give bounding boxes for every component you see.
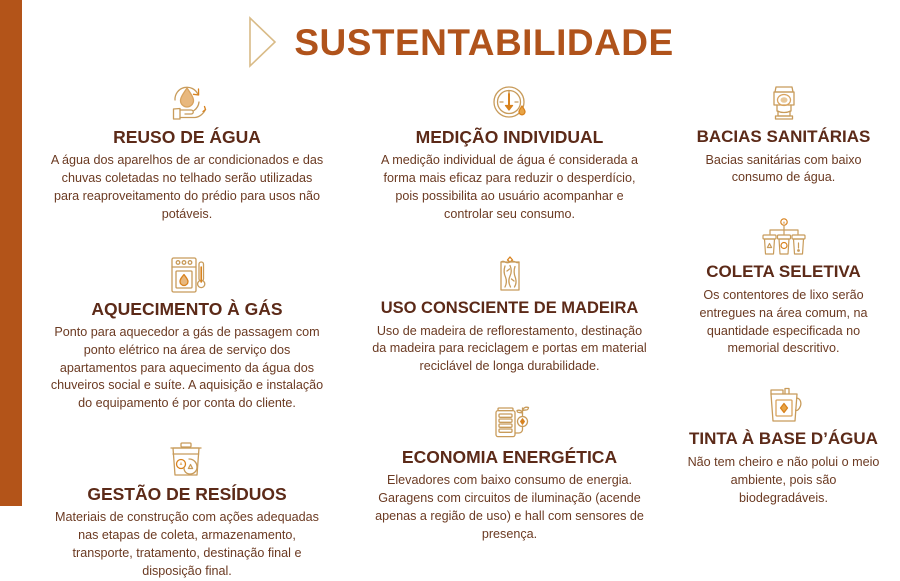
feature-title: TINTA À BASE D’ÁGUA bbox=[673, 429, 894, 449]
feature-title: ECONOMIA ENERGÉTICA bbox=[358, 447, 661, 467]
feature-title: GESTÃO DE RESÍDUOS bbox=[28, 484, 346, 504]
feature-body: Não tem cheiro e não polui o meio ambien… bbox=[673, 454, 894, 508]
hand-water-drop-recycle-icon bbox=[28, 78, 346, 124]
triangle-right-outline-icon bbox=[248, 16, 278, 68]
feature-body: Elevadores com baixo consumo de energia.… bbox=[358, 472, 661, 544]
feature-aquecimento-a-gas: AQUECIMENTO À GÁS Ponto para aquecedor a… bbox=[22, 250, 352, 414]
paint-bucket-icon bbox=[673, 380, 894, 426]
spacer bbox=[667, 358, 900, 380]
column-right: BACIAS SANITÁRIAS Bacias sanitárias com … bbox=[667, 78, 900, 581]
recycling-bins-sorting-icon bbox=[673, 213, 894, 259]
feature-body: A água dos aparelhos de ar condicionados… bbox=[28, 152, 346, 224]
spacer bbox=[667, 187, 900, 213]
feature-title: MEDIÇÃO INDIVIDUAL bbox=[358, 127, 661, 147]
feature-body: A medição individual de água é considera… bbox=[358, 152, 661, 224]
feature-title: BACIAS SANITÁRIAS bbox=[673, 127, 894, 147]
feature-body: Os contentores de lixo serão entregues n… bbox=[673, 287, 894, 359]
feature-reuso-de-agua: REUSO DE ÁGUA A água dos aparelhos de ar… bbox=[22, 78, 352, 224]
battery-leaf-energy-icon bbox=[358, 398, 661, 444]
page-title: SUSTENTABILIDADE bbox=[294, 24, 673, 61]
feature-body: Ponto para aquecedor a gás de passagem c… bbox=[28, 324, 346, 413]
accent-bar-left bbox=[0, 0, 22, 506]
toilet-bowl-icon bbox=[673, 78, 894, 124]
feature-gestao-de-residuos: GESTÃO DE RESÍDUOS Materiais de construç… bbox=[22, 435, 352, 581]
trash-bin-recycle-bag-icon bbox=[28, 435, 346, 481]
feature-bacias-sanitarias: BACIAS SANITÁRIAS Bacias sanitárias com … bbox=[667, 78, 900, 187]
feature-title: REUSO DE ÁGUA bbox=[28, 127, 346, 147]
features-grid: REUSO DE ÁGUA A água dos aparelhos de ar… bbox=[22, 78, 900, 581]
gas-heater-flame-thermometer-icon bbox=[28, 250, 346, 296]
feature-economia-energetica: ECONOMIA ENERGÉTICA Elevadores com baixo… bbox=[352, 398, 667, 544]
page-header: SUSTENTABILIDADE bbox=[22, 0, 900, 78]
spacer bbox=[22, 413, 352, 435]
feature-medicao-individual: MEDIÇÃO INDIVIDUAL A medição individual … bbox=[352, 78, 667, 224]
column-left: REUSO DE ÁGUA A água dos aparelhos de ar… bbox=[22, 78, 352, 581]
column-middle: MEDIÇÃO INDIVIDUAL A medição individual … bbox=[352, 78, 667, 581]
feature-title: AQUECIMENTO À GÁS bbox=[28, 299, 346, 319]
wood-log-grain-icon bbox=[358, 250, 661, 296]
feature-coleta-seletiva: COLETA SELETIVA Os contentores de lixo s… bbox=[667, 213, 900, 358]
feature-body: Uso de madeira de reflorestamento, desti… bbox=[358, 323, 661, 377]
spacer bbox=[352, 224, 667, 250]
spacer bbox=[22, 224, 352, 250]
infographic-page: SUSTENTABILIDADE REUSO bbox=[22, 0, 900, 506]
feature-uso-consciente-madeira: USO CONSCIENTE DE MADEIRA Uso de madeira… bbox=[352, 250, 667, 377]
water-meter-gauge-drop-icon bbox=[358, 78, 661, 124]
feature-tinta-base-agua: TINTA À BASE D’ÁGUA Não tem cheiro e não… bbox=[667, 380, 900, 507]
feature-body: Bacias sanitárias com baixo consumo de á… bbox=[673, 152, 894, 188]
spacer bbox=[352, 376, 667, 398]
feature-body: Materiais de construção com ações adequa… bbox=[28, 509, 346, 581]
feature-title: COLETA SELETIVA bbox=[673, 262, 894, 282]
feature-title: USO CONSCIENTE DE MADEIRA bbox=[358, 299, 661, 318]
